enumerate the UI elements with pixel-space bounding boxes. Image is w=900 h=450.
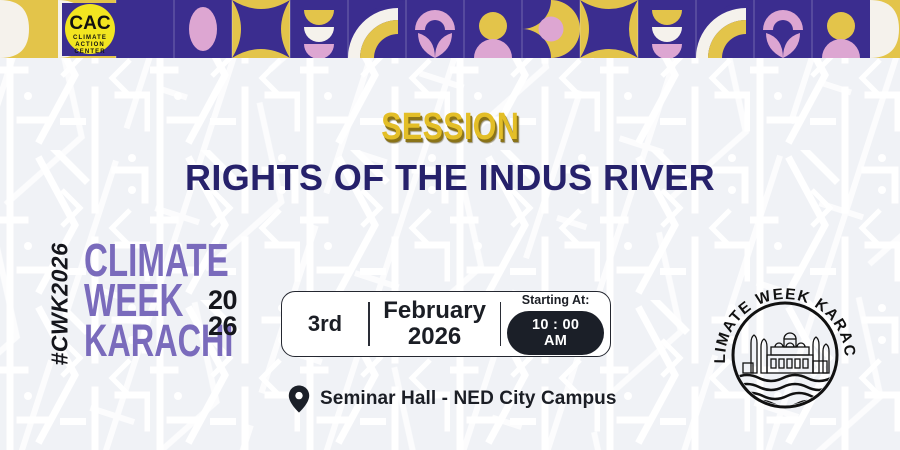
cwk-year-stack: 20 26	[208, 288, 237, 339]
cwk-year-bottom: 26	[208, 314, 237, 340]
starting-at-label: Starting At:	[507, 293, 604, 307]
location-pin-icon	[288, 385, 310, 413]
cac-initials: CAC	[69, 13, 110, 34]
event-poster: CAC CLIMATE ACTION CENTER SESSION RIGHTS…	[0, 0, 900, 450]
page-title: RIGHTS OF THE INDUS RIVER	[0, 158, 900, 198]
badge-arc-text: CLIMATE WEEK KARACHI	[705, 277, 858, 364]
session-eyebrow: SESSION	[381, 108, 519, 146]
cwk-year-top: 20	[208, 288, 237, 314]
hashtag-cwk2026: #CWK2026	[47, 246, 74, 366]
cac-line2: ACTION	[75, 42, 105, 48]
venue-name: Seminar Hall - NED City Campus	[320, 388, 617, 410]
start-time-group: Starting At: 10 : 00 AM	[501, 293, 610, 355]
cac-logo[interactable]: CAC CLIMATE ACTION CENTER	[62, 3, 118, 56]
event-day: 3rd	[282, 311, 368, 337]
start-time-pill: 10 : 00 AM	[507, 311, 604, 355]
event-month: February	[370, 298, 500, 324]
decorative-banner	[0, 0, 900, 58]
event-month-year: February 2026	[370, 298, 500, 350]
venue-row: Seminar Hall - NED City Campus	[288, 385, 617, 413]
date-time-card: 3rd February 2026 Starting At: 10 : 00 A…	[281, 291, 611, 357]
cac-line1: CLIMATE	[73, 35, 107, 41]
climate-week-lockup: #CWK2026 CLIMATE WEEK KARACHI 20 26	[28, 240, 228, 415]
title-block: SESSION RIGHTS OF THE INDUS RIVER	[0, 108, 900, 198]
climate-week-karachi-badge[interactable]: CLIMATE WEEK KARACHI	[705, 277, 865, 417]
cac-line3: CENTER	[74, 49, 105, 55]
event-year: 2026	[370, 324, 500, 350]
cwk-wordmark: CLIMATE WEEK KARACHI 20 26	[84, 240, 229, 361]
